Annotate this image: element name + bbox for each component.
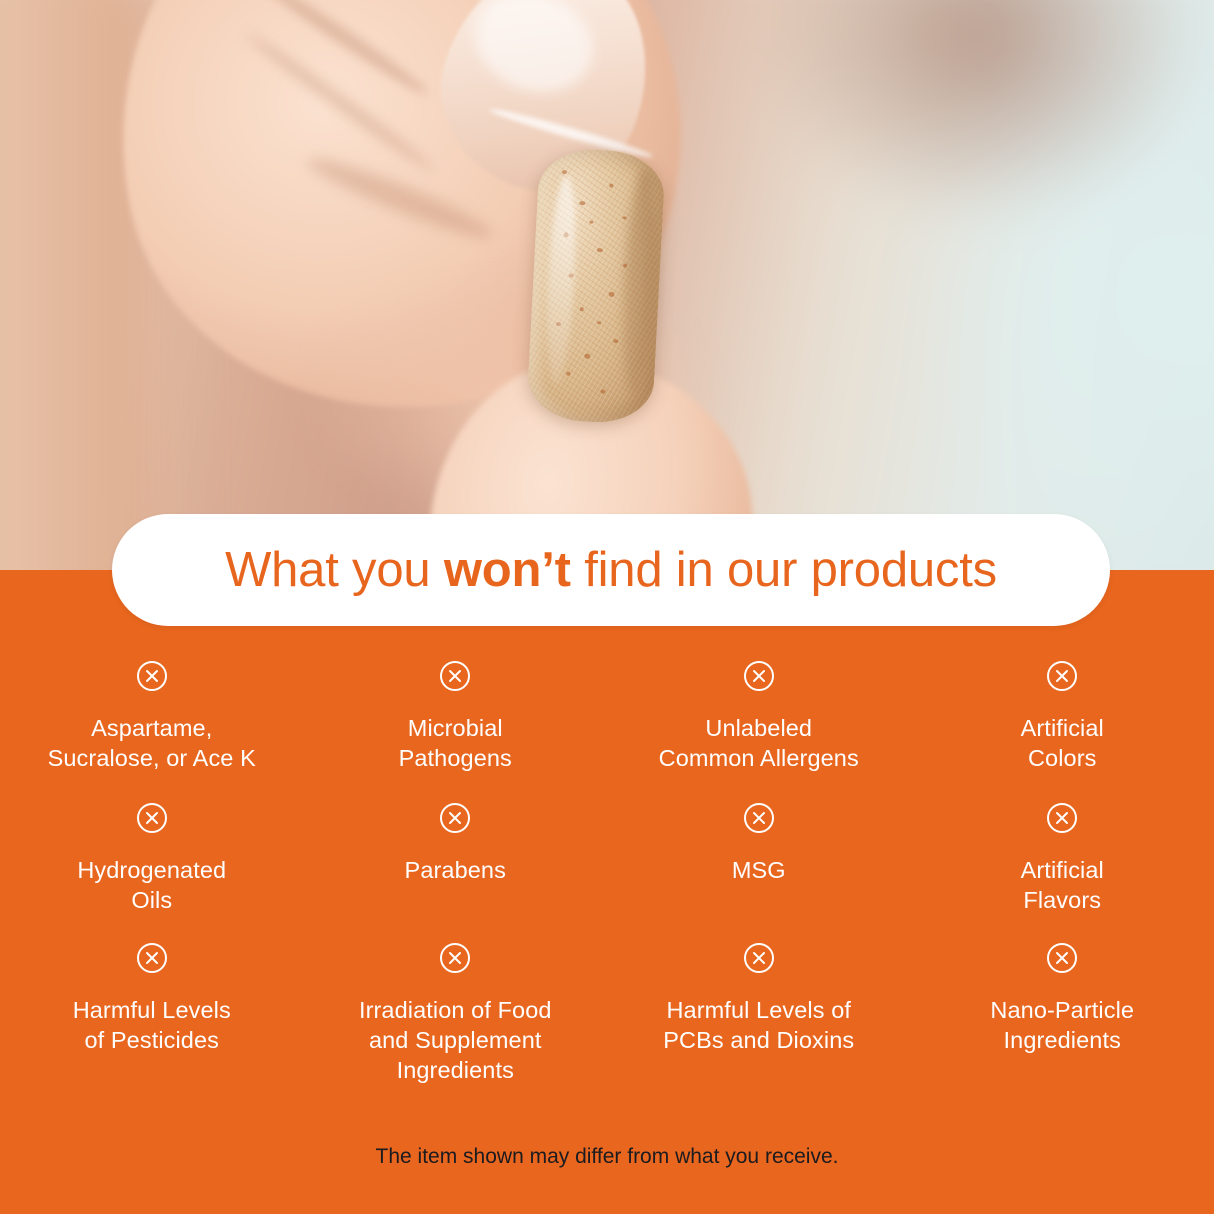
exclusion-label: ArtificialFlavors	[1021, 855, 1104, 915]
product-info-graphic: What you won’t find in our products Aspa…	[0, 0, 1214, 1214]
exclusion-label: MSG	[732, 855, 786, 885]
circle-x-icon	[136, 660, 168, 692]
circle-x-icon	[743, 942, 775, 974]
circle-x-icon	[1046, 942, 1078, 974]
circle-x-icon	[743, 660, 775, 692]
exclusion-item: ArtificialFlavors	[911, 802, 1214, 942]
exclusion-item: UnlabeledCommon Allergens	[607, 660, 911, 802]
exclusion-label: Nano-ParticleIngredients	[990, 995, 1134, 1055]
title-prefix: What you	[225, 543, 444, 597]
exclusion-label: Harmful Levelsof Pesticides	[73, 995, 231, 1055]
circle-x-icon	[743, 802, 775, 834]
exclusion-label: UnlabeledCommon Allergens	[659, 713, 859, 773]
exclusion-label: Parabens	[405, 855, 506, 885]
exclusion-label: Harmful Levels ofPCBs and Dioxins	[663, 995, 854, 1055]
circle-x-icon	[136, 802, 168, 834]
exclusion-item: Parabens	[304, 802, 608, 942]
exclusions-grid-row-2: HydrogenatedOils Parabens MSG Artificial…	[0, 802, 1214, 942]
exclusion-item: MicrobialPathogens	[304, 660, 608, 802]
circle-x-icon	[1046, 660, 1078, 692]
exclusion-label: ArtificialColors	[1021, 713, 1104, 773]
exclusion-item: Harmful Levels ofPCBs and Dioxins	[607, 942, 911, 1082]
exclusion-item: HydrogenatedOils	[0, 802, 304, 942]
circle-x-icon	[439, 660, 471, 692]
exclusion-item: Nano-ParticleIngredients	[911, 942, 1214, 1082]
exclusions-grid-row-1: Aspartame,Sucralose, or Ace K MicrobialP…	[0, 660, 1214, 802]
exclusion-item: MSG	[607, 802, 911, 942]
exclusion-label: Aspartame,Sucralose, or Ace K	[48, 713, 256, 773]
exclusion-label: Irradiation of Foodand SupplementIngredi…	[359, 995, 552, 1085]
title-suffix: find in our products	[571, 543, 997, 597]
title-emphasis: won’t	[444, 543, 571, 597]
hero-photo	[0, 0, 1214, 572]
page-title: What you won’t find in our products	[225, 546, 997, 595]
circle-x-icon	[439, 942, 471, 974]
circle-x-icon	[136, 942, 168, 974]
exclusion-item: ArtificialColors	[911, 660, 1214, 802]
exclusion-label: HydrogenatedOils	[77, 855, 226, 915]
circle-x-icon	[1046, 802, 1078, 834]
exclusion-item: Irradiation of Foodand SupplementIngredi…	[304, 942, 608, 1082]
disclaimer-text: The item shown may differ from what you …	[0, 1143, 1214, 1171]
exclusion-item: Harmful Levelsof Pesticides	[0, 942, 304, 1082]
exclusions-grid-row-3: Harmful Levelsof Pesticides Irradiation …	[0, 942, 1214, 1082]
title-card: What you won’t find in our products	[112, 514, 1110, 626]
exclusion-item: Aspartame,Sucralose, or Ace K	[0, 660, 304, 802]
circle-x-icon	[439, 802, 471, 834]
exclusion-label: MicrobialPathogens	[399, 713, 512, 773]
